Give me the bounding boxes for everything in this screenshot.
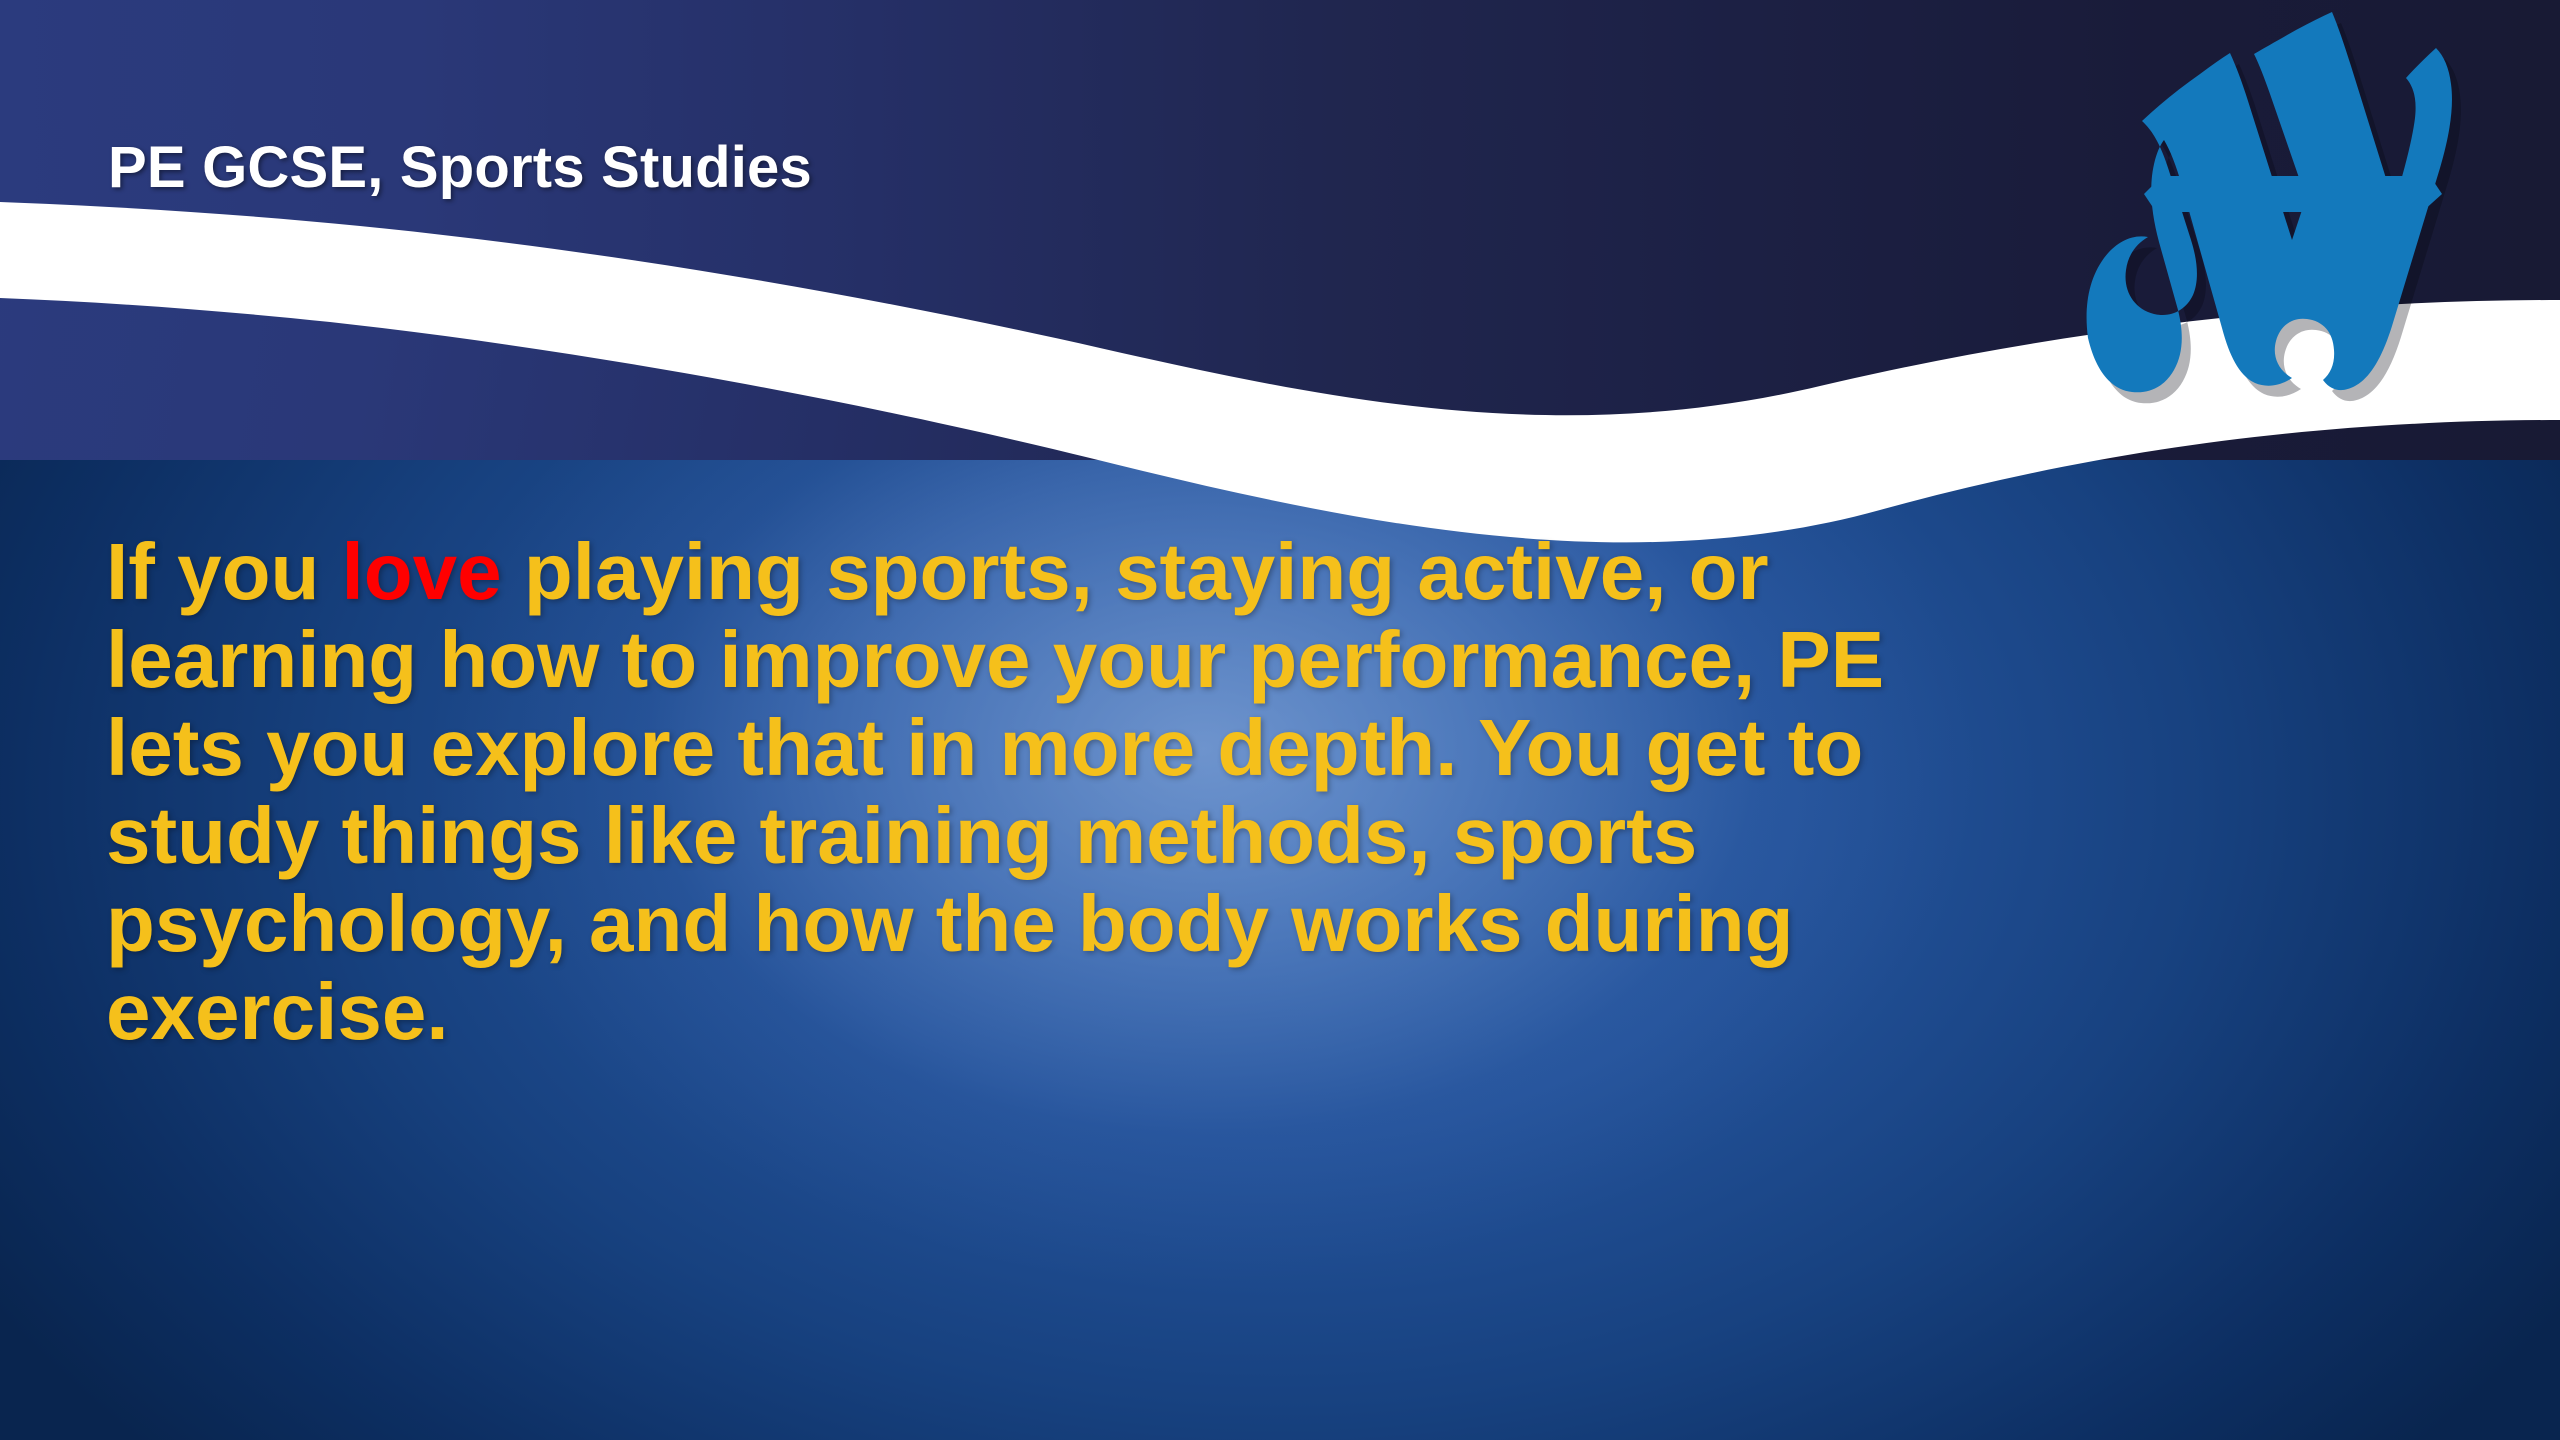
body-line-3: lets you explore that in more depth. You…: [106, 704, 2446, 792]
body-line-4: study things like training methods, spor…: [106, 792, 2446, 880]
page-title: PE GCSE, Sports Studies: [108, 134, 812, 201]
highlight-word-love: love: [342, 527, 502, 616]
body-line-2: learning how to improve your performance…: [106, 616, 2446, 704]
gothic-letter-m-logo: [2070, 8, 2540, 408]
presentation-slide: PE GCSE, Sports Studies If you love play…: [0, 0, 2560, 1440]
body-line-5: psychology, and how the body works durin…: [106, 880, 2446, 968]
body-line-1: If you love playing sports, staying acti…: [106, 528, 2446, 616]
slide-body-text: If you love playing sports, staying acti…: [106, 528, 2446, 1056]
body-line-1-seg-3: playing sports, staying active, or: [502, 527, 1769, 616]
gothic-m-glyph: [2087, 12, 2461, 403]
body-line-1-seg-1: If you: [106, 527, 342, 616]
body-line-6: exercise.: [106, 968, 2446, 1056]
